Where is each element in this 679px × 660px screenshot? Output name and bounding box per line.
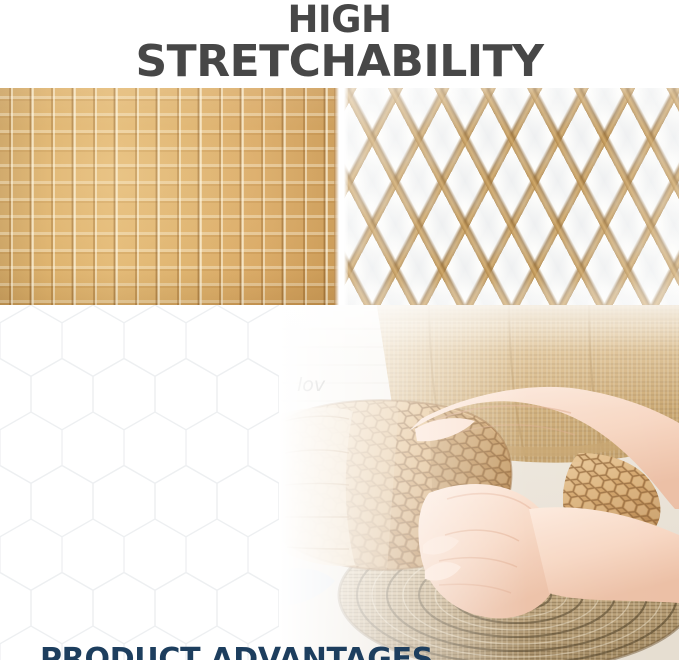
expanded-honeycomb-mesh-image (344, 88, 679, 305)
page-title: PRODUCT ADVANTAGES (40, 642, 433, 660)
comparison-photo-band (0, 88, 679, 305)
honeycomb-highlight-sheen (344, 88, 679, 305)
kraft-shading (0, 88, 339, 305)
headline-line-2: STRETCHABILITY (0, 40, 679, 84)
kraft-panel-edge (334, 88, 339, 305)
advantages-section: lov (0, 305, 679, 660)
mesh-panel-edge (344, 88, 348, 305)
product-advantages-poster: HIGH STRETCHABILITY (0, 0, 679, 660)
headline-line-1: HIGH (0, 2, 679, 39)
unexpanded-kraft-paper-image (0, 88, 339, 305)
headline-block: HIGH STRETCHABILITY (0, 0, 679, 88)
hands-stretching-honeycomb-paper-photo: lov (279, 305, 679, 660)
